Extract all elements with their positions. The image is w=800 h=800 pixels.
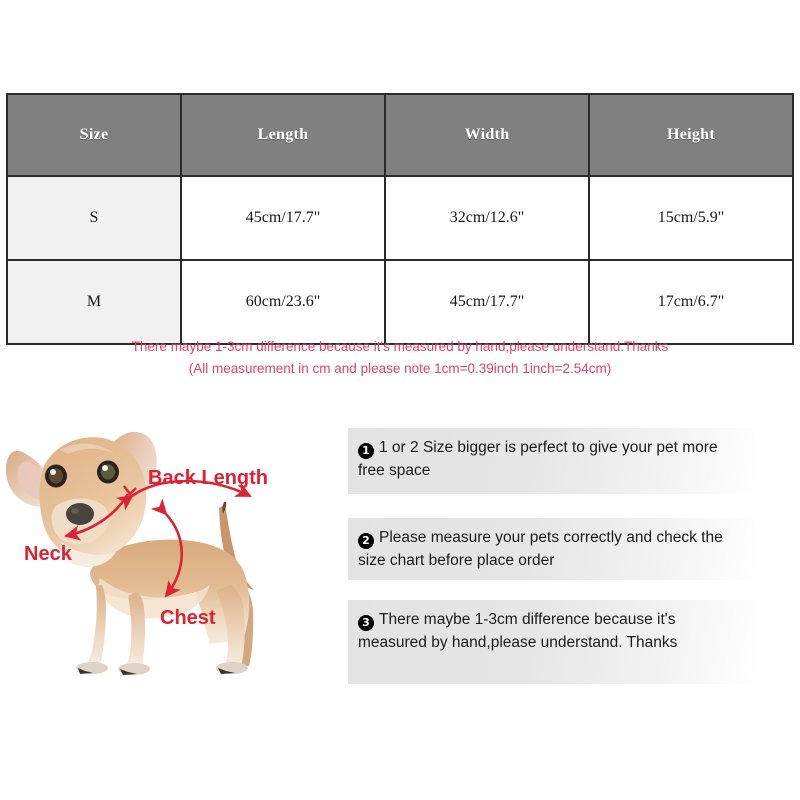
note-text-2: Please measure your pets correctly and c… [358, 529, 723, 569]
measurement-disclaimer: There maybe 1-3cm difference because it'… [0, 336, 800, 380]
svg-text:Chest: Chest [160, 607, 216, 629]
disclaimer-line-1: There maybe 1-3cm difference because it'… [0, 336, 800, 358]
table-header-row: Size Length Width Height [7, 94, 793, 176]
note-number-1: 1 [358, 443, 374, 459]
note-text-3: There maybe 1-3cm difference because it'… [358, 611, 677, 651]
column-header-width: Width [385, 94, 589, 176]
note-panel-3: 3There maybe 1-3cm difference because it… [348, 600, 756, 684]
svg-text:Neck: Neck [24, 543, 73, 565]
disclaimer-line-2: (All measurement in cm and please note 1… [0, 358, 800, 380]
cell-size-s: S [7, 176, 181, 260]
size-table: Size Length Width Height S 45cm/17.7" 32… [6, 93, 794, 345]
cell-length-m: 60cm/23.6" [181, 260, 385, 344]
note-number-2: 2 [358, 533, 374, 549]
column-header-size: Size [7, 94, 181, 176]
cell-size-m: M [7, 260, 181, 344]
column-header-height: Height [589, 94, 793, 176]
note-number-3: 3 [358, 615, 374, 631]
size-chart-table: Size Length Width Height S 45cm/17.7" 32… [6, 93, 792, 345]
svg-text:Back Length: Back Length [148, 467, 268, 489]
table-row: S 45cm/17.7" 32cm/12.6" 15cm/5.9" [7, 176, 793, 260]
note-panel-1: 11 or 2 Size bigger is perfect to give y… [348, 428, 756, 494]
table-row: M 60cm/23.6" 45cm/17.7" 17cm/6.7" [7, 260, 793, 344]
column-header-length: Length [181, 94, 385, 176]
cell-length-s: 45cm/17.7" [181, 176, 385, 260]
note-panel-2: 2Please measure your pets correctly and … [348, 518, 756, 580]
cell-height-s: 15cm/5.9" [589, 176, 793, 260]
note-text-1: 1 or 2 Size bigger is perfect to give yo… [358, 439, 718, 479]
cell-width-s: 32cm/12.6" [385, 176, 589, 260]
cell-height-m: 17cm/6.7" [589, 260, 793, 344]
cell-width-m: 45cm/17.7" [385, 260, 589, 344]
dog-measurement-illustration: Back Length Neck Chest [0, 410, 340, 710]
